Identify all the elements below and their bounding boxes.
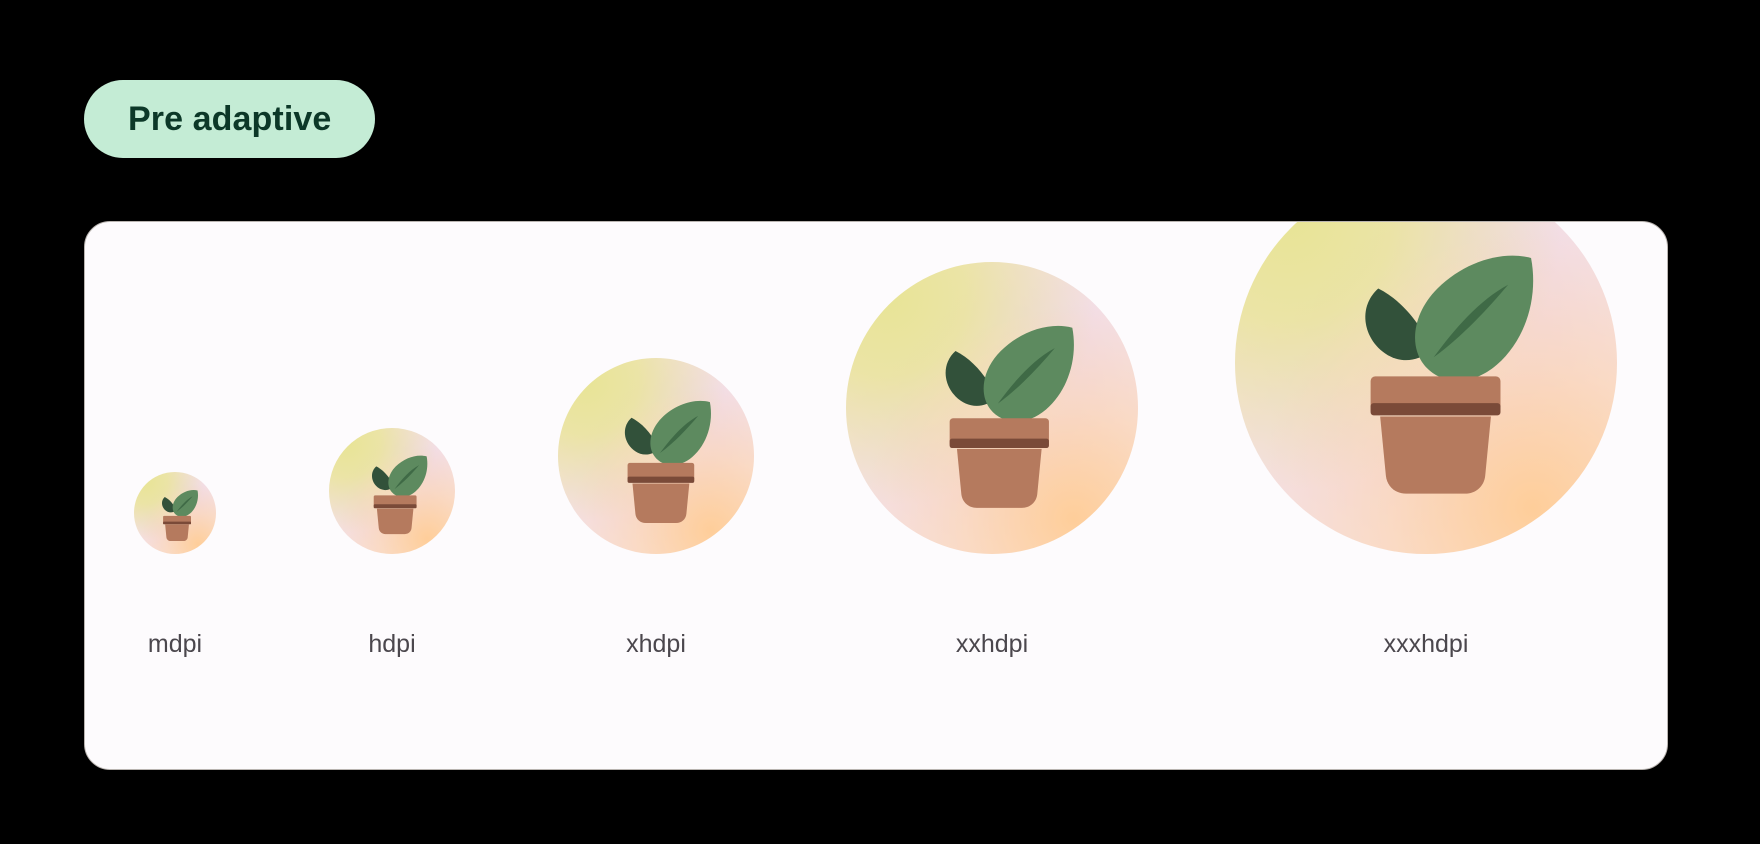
status-badge: Pre adaptive [84,80,375,158]
pot-rim-shadow [950,439,1049,448]
density-item-xxhdpi: xxhdpi [846,262,1138,657]
icon-scale-card: mdpihdpixhdpixxhdpixxxhdpi [84,221,1668,770]
pot-body [1380,416,1491,493]
potted-plant-icon [329,428,455,554]
pot-body [165,524,189,541]
density-row: mdpihdpixhdpixxhdpixxxhdpi [85,222,1667,769]
potted-plant-icon [1235,221,1617,554]
pot-body [377,509,414,534]
density-label-xxxhdpi: xxxhdpi [1384,632,1469,657]
pot-rim-shadow [163,522,191,525]
status-badge-label: Pre adaptive [128,102,331,136]
density-label-mdpi: mdpi [148,632,202,657]
density-label-xxhdpi: xxhdpi [956,632,1028,657]
screenshot-root: Pre adaptive mdpihdpixhdpixxhdpixxxhdpi [0,0,1760,844]
density-label-xhdpi: xhdpi [626,632,686,657]
density-item-xxxhdpi: xxxhdpi [1235,221,1617,657]
potted-plant-icon [846,262,1138,554]
plant-glyph [846,262,1138,554]
pot-body [632,483,689,523]
plant-glyph [558,358,754,554]
potted-plant-icon [134,472,216,554]
pot-body [957,449,1042,508]
density-item-xhdpi: xhdpi [558,358,754,657]
pot-rim-shadow [1371,403,1501,415]
plant-glyph [134,472,216,554]
plant-glyph [329,428,455,554]
pot-rim-shadow [628,477,695,483]
density-item-hdpi: hdpi [329,428,455,657]
pot-rim-shadow [374,504,417,508]
plant-glyph [1235,221,1617,554]
density-label-hdpi: hdpi [368,632,415,657]
density-item-mdpi: mdpi [134,472,216,657]
potted-plant-icon [558,358,754,554]
